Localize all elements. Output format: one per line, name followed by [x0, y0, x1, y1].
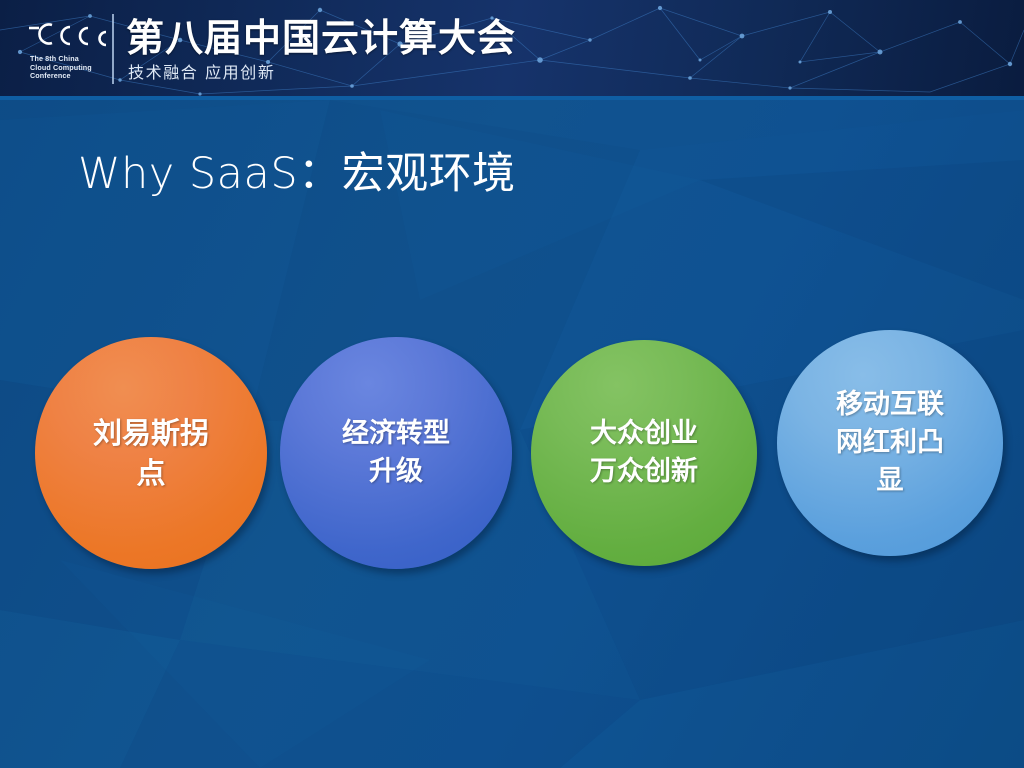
bubble-label: 大众创业 万众创新 — [590, 415, 698, 491]
bubble-label: 移动互联 网红利凸 显 — [836, 386, 944, 500]
bubble-lewis-turning-point: 刘易斯拐 点 — [35, 337, 267, 569]
header-accent-rule — [0, 96, 1024, 100]
bubble-label: 经济转型 升级 — [342, 415, 450, 491]
logo-divider — [112, 14, 114, 84]
slide-title: Why SaaS：宏观环境 — [78, 146, 516, 202]
bubble-group: 刘易斯拐 点 经济转型 升级 大众创业 万众创新 移动互联 网红利凸 显 — [0, 330, 1024, 570]
conference-header-banner: The 8th China Cloud Computing Conference… — [0, 0, 1024, 96]
ccc-logo-icon — [26, 19, 122, 53]
bubble-mobile-internet-dividend: 移动互联 网红利凸 显 — [777, 330, 1003, 556]
conference-title: 第八届中国云计算大会 — [126, 16, 516, 60]
presentation-slide: The 8th China Cloud Computing Conference… — [0, 0, 1024, 768]
bubble-economic-transformation: 经济转型 升级 — [280, 337, 512, 569]
conference-subtitle: 技术融合 应用创新 — [128, 63, 276, 83]
bubble-label: 刘易斯拐 点 — [93, 413, 209, 493]
bubble-mass-entrepreneurship: 大众创业 万众创新 — [531, 340, 757, 566]
ccc-logo: The 8th China Cloud Computing Conference — [26, 19, 122, 81]
